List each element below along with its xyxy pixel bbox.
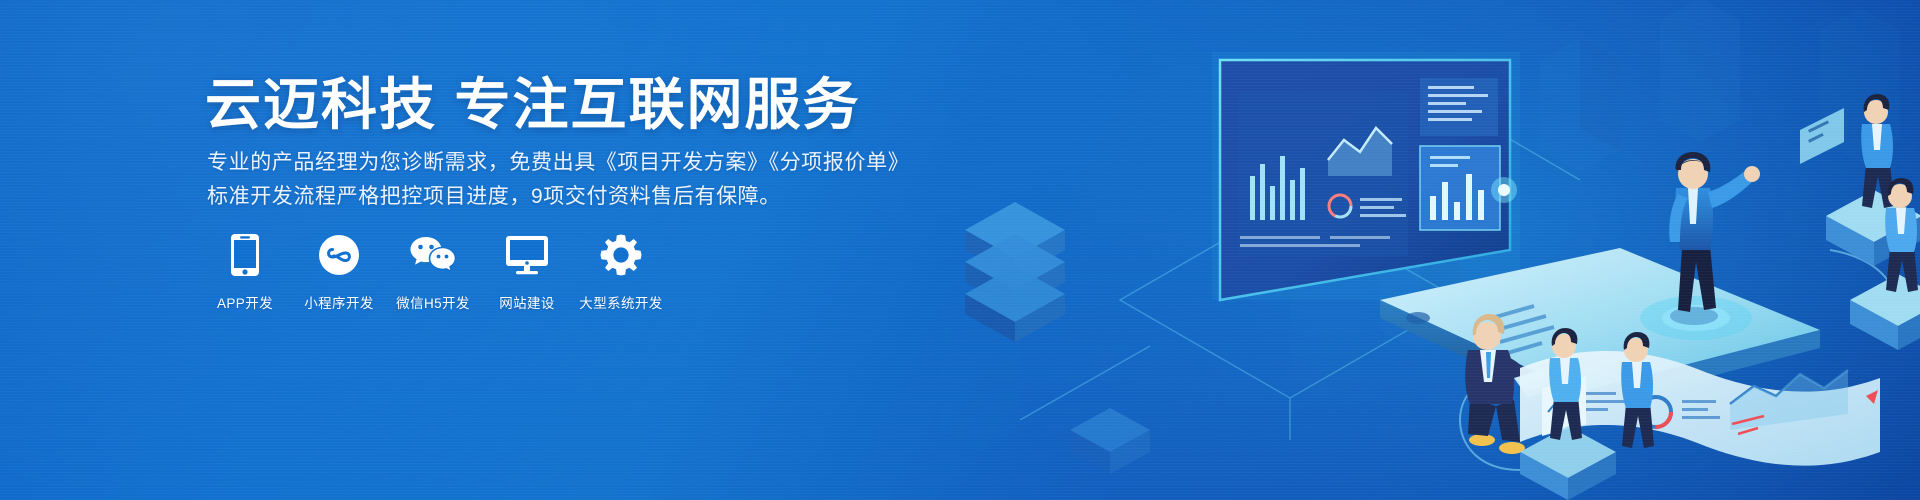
service-item-mini-program[interactable]: 小程序开发 xyxy=(303,232,375,312)
monitor-icon xyxy=(504,232,550,278)
banner-title: 云迈科技 专注互联网服务 xyxy=(205,72,861,138)
banner-content: 云迈科技 专注互联网服务 专业的产品经理为您诊断需求，免费出具《项目开发方案》《… xyxy=(205,0,965,500)
service-list: APP开发 小程序开发 xyxy=(209,232,657,312)
illustration-isometric-tech xyxy=(820,0,1920,500)
service-label-website: 网站建设 xyxy=(499,292,555,312)
service-label-system: 大型系统开发 xyxy=(579,292,662,312)
service-label-wechat-h5: 微信H5开发 xyxy=(396,292,470,312)
service-item-app[interactable]: APP开发 xyxy=(209,232,281,312)
service-label-mini-program: 小程序开发 xyxy=(304,292,374,312)
service-item-wechat-h5[interactable]: 微信H5开发 xyxy=(397,232,469,312)
hero-banner: 云迈科技 专注互联网服务 专业的产品经理为您诊断需求，免费出具《项目开发方案》《… xyxy=(0,0,1920,500)
banner-subtitle-line-1: 专业的产品经理为您诊断需求，免费出具《项目开发方案》《分项报价单》 xyxy=(207,146,909,180)
mini-program-icon xyxy=(316,232,362,278)
server-stack xyxy=(965,202,1065,342)
accent-cubes xyxy=(1070,408,1150,474)
wechat-icon xyxy=(410,232,456,278)
person-presenter xyxy=(1669,152,1760,325)
service-label-app: APP开发 xyxy=(217,292,273,312)
service-item-system[interactable]: 大型系统开发 xyxy=(585,232,657,312)
banner-subtitle-line-2: 标准开发流程严格把控项目进度，9项交付资料售后有保障。 xyxy=(207,180,909,214)
gear-icon xyxy=(598,232,644,278)
mobile-phone-icon xyxy=(222,232,268,278)
service-item-website[interactable]: 网站建设 xyxy=(491,232,563,312)
banner-subtitle: 专业的产品经理为您诊断需求，免费出具《项目开发方案》《分项报价单》 标准开发流程… xyxy=(207,146,909,214)
dashboard-screen xyxy=(1212,52,1520,300)
